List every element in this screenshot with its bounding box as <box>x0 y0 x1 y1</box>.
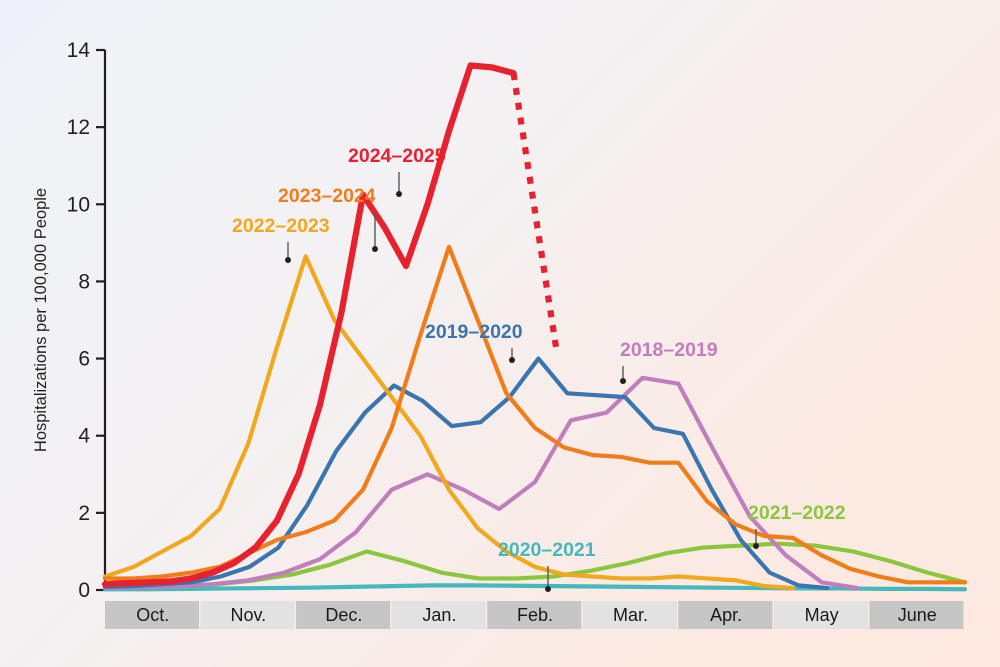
chart-figure: Oct.Nov.Dec.Jan.Feb.Mar.Apr.MayJune 0246… <box>0 0 1000 667</box>
annotation-dot <box>620 378 626 384</box>
series-line-2023-2024 <box>105 247 965 583</box>
annotation-dot <box>509 357 515 363</box>
series-line-2018-2019 <box>105 378 858 588</box>
y-tick-label-12: 12 <box>67 116 90 139</box>
series-label-2022-2023: 2022–2023 <box>232 215 330 237</box>
line-chart-svg: Oct.Nov.Dec.Jan.Feb.Mar.Apr.MayJune 0246… <box>0 0 1000 667</box>
y-tick-label-4: 4 <box>78 425 90 448</box>
month-label-nov: Nov. <box>230 605 266 625</box>
annotation-dot <box>285 257 291 263</box>
y-axis-title: Hospitalizations per 100,000 People <box>32 188 50 452</box>
month-label-dec: Dec. <box>325 605 362 625</box>
month-label-mar: Mar. <box>613 605 648 625</box>
month-label-may: May <box>805 605 839 625</box>
month-label-feb: Feb. <box>517 605 553 625</box>
series-label-2018-2019: 2018–2019 <box>620 339 718 361</box>
series-label-2021-2022: 2021–2022 <box>748 502 846 524</box>
axis-group: 02468101214Hospitalizations per 100,000 … <box>32 39 105 602</box>
y-tick-label-8: 8 <box>78 270 90 293</box>
series-label-2024-2025: 2024–2025 <box>348 145 446 167</box>
month-label-apr: Apr. <box>710 605 742 625</box>
annotation-dot <box>396 191 402 197</box>
y-tick-label-14: 14 <box>67 39 91 62</box>
y-tick-label-0: 0 <box>78 579 90 602</box>
series-line-2019-2020 <box>105 359 827 589</box>
series-label-2023-2024: 2023–2024 <box>278 185 376 207</box>
annotation-dot <box>372 246 378 252</box>
y-tick-label-2: 2 <box>78 502 90 525</box>
series-label-2019-2020: 2019–2020 <box>425 321 523 343</box>
month-bands: Oct.Nov.Dec.Jan.Feb.Mar.Apr.MayJune <box>105 601 964 629</box>
series-projection-2024-2025 <box>514 73 557 347</box>
month-label-june: June <box>898 605 937 625</box>
series-label-2020-2021: 2020–2021 <box>498 539 596 561</box>
month-label-oct: Oct. <box>136 605 169 625</box>
annotation-dot <box>545 586 551 592</box>
annotation-dot <box>753 543 759 549</box>
y-tick-label-6: 6 <box>78 348 90 371</box>
month-label-jan: Jan. <box>422 605 456 625</box>
y-tick-label-10: 10 <box>67 193 90 216</box>
